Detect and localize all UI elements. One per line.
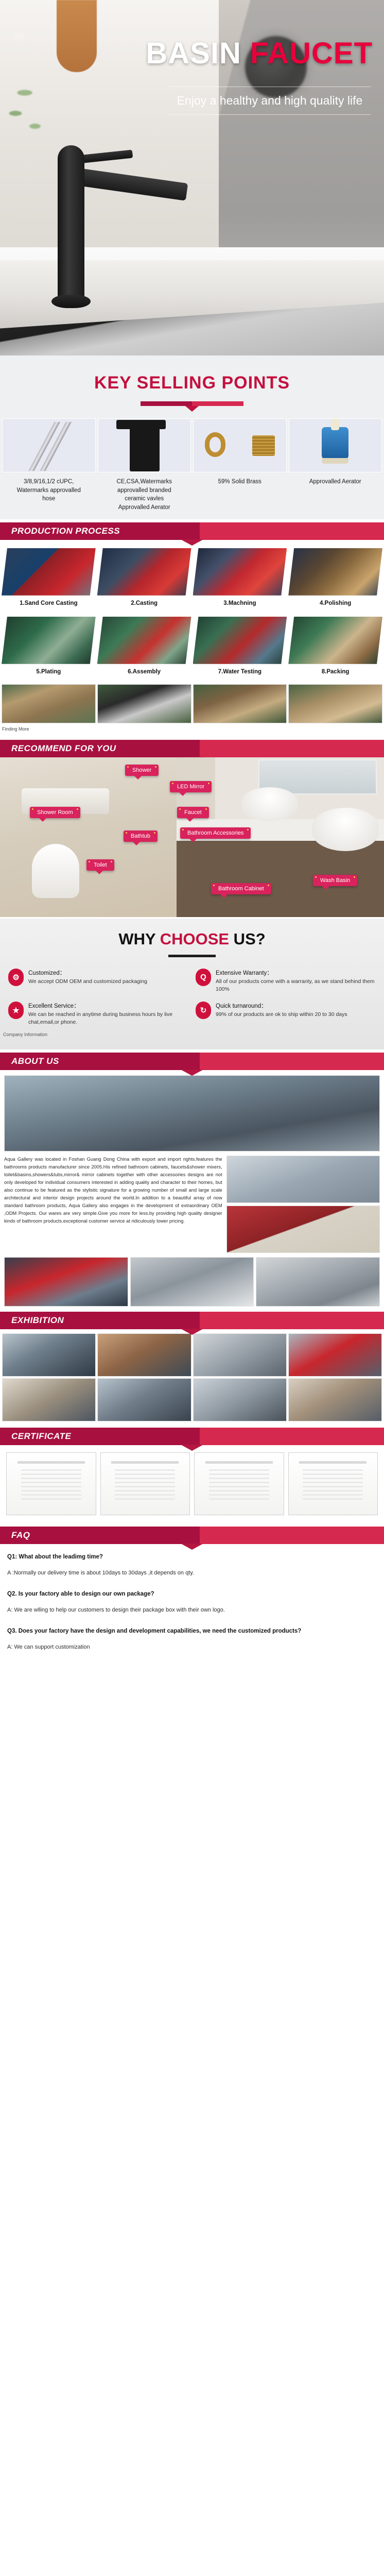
about-photo-column (226, 1156, 380, 1253)
hotspot-tag-bathtub[interactable]: Bathtub (124, 831, 158, 842)
braided-hose-icon (2, 418, 96, 472)
faq-question: Q1: What about the leadimg time? (7, 1552, 377, 1562)
production-step-label: 4.Polishing (288, 596, 382, 608)
production-step-label: 6.Assembly (97, 664, 191, 677)
why-title-part-1: WHY (118, 930, 160, 948)
exhibition-photo[interactable] (2, 1333, 96, 1377)
why-item-heading: Quick turnaround： (216, 1002, 347, 1010)
hotspot-label: Shower (132, 767, 151, 773)
certificate-image[interactable] (100, 1452, 190, 1515)
production-step-label: 7.Water Testing (193, 664, 287, 677)
why-choose-us-grid: ⚙ Customized： We accept ODM OEM and cust… (0, 969, 384, 1027)
banner-arrow-ornament (181, 1445, 203, 1451)
certificate-image[interactable] (194, 1452, 284, 1515)
storage-racks-photo (256, 1257, 380, 1307)
packaging-photo[interactable] (288, 684, 382, 723)
packaging-photo[interactable] (2, 684, 96, 723)
hotspot-label: Bathtub (131, 833, 150, 839)
key-selling-points-section: KEY SELLING POINTS 3/8,9/16,1/2 cUPC, Wa… (0, 355, 384, 519)
exhibition-photo[interactable] (288, 1333, 382, 1377)
ceramic-valve-icon (98, 418, 191, 472)
hotspot-tag-toilet[interactable]: Toilet (86, 859, 114, 871)
production-step-row: 1.Sand Core Casting 2.Casting 3.Machning… (0, 548, 384, 608)
exhibition-gallery (0, 1329, 384, 1425)
why-item-heading: Extensive Warranty： (216, 969, 376, 977)
why-item-body: All of our products come with a warranty… (216, 978, 376, 993)
production-step-row: 5.Plating 6.Assembly 7.Water Testing 8.P… (0, 617, 384, 677)
why-item-body: 99% of our products are ok to ship withi… (216, 1011, 347, 1019)
why-item-service: ★ Excellent Service： We can be reached i… (8, 1002, 188, 1026)
production-step[interactable]: 2.Casting (97, 548, 191, 608)
exhibition-photo[interactable] (97, 1333, 191, 1377)
selling-point-caption: Approvalled Aerator (289, 472, 382, 494)
banner-arrow-ornament (181, 539, 203, 546)
key-selling-points-grid: 3/8,9/16,1/2 cUPC, Watermarks approvalle… (0, 418, 384, 519)
wash-basin-image (242, 787, 298, 821)
banner-label: PRODUCTION PROCESS (11, 526, 120, 536)
hotspot-tag-wash-basin[interactable]: Wash Basin (313, 875, 357, 886)
aerator-cartridge-icon (289, 418, 382, 472)
production-step-label: 1.Sand Core Casting (2, 596, 96, 608)
finding-more-label[interactable]: Finding More (0, 723, 384, 737)
exhibition-photo[interactable] (193, 1333, 287, 1377)
banner-arrow-ornament (181, 1070, 203, 1076)
wash-basin-image (312, 808, 379, 851)
packaging-photo[interactable] (193, 684, 287, 723)
exhibition-photo[interactable] (193, 1378, 287, 1421)
production-step-label: 3.Machning (193, 596, 287, 608)
why-item-warranty: Q Extensive Warranty： All of our product… (196, 969, 376, 993)
production-step[interactable]: 8.Packing (288, 617, 382, 677)
excellent-service-icon: ★ (8, 1002, 24, 1019)
exhibition-banner: EXHIBITION (0, 1312, 384, 1329)
packaging-photo-row (0, 677, 384, 723)
exhibition-photo[interactable] (288, 1378, 382, 1421)
why-choose-us-section: WHY CHOOSE US? ⚙ Customized： We accept O… (0, 917, 384, 1049)
hotspot-tag-bathroom-accessories[interactable]: Bathroom Accessories (180, 827, 251, 839)
warehouse-photo (130, 1257, 254, 1307)
certificate-gallery (0, 1445, 384, 1523)
banner-label: RECOMMEND FOR YOU (11, 743, 116, 754)
production-step[interactable]: 6.Assembly (97, 617, 191, 677)
hotspot-label: Faucet (184, 809, 202, 816)
hotspot-label: Toilet (94, 862, 107, 868)
hotspot-tag-shower-room[interactable]: Shower Room (30, 807, 80, 818)
decorative-wood-board (57, 0, 97, 72)
faq-answer: A: We are wlling to help our customers t… (7, 1606, 377, 1615)
warranty-shield-icon: Q (196, 969, 211, 986)
selling-point-item[interactable]: 3/8,9/16,1/2 cUPC, Watermarks approvalle… (2, 418, 96, 519)
brass-body-icon (193, 418, 287, 472)
about-us-section: Aqua Gallery was located in Foshan Guang… (0, 1070, 384, 1309)
production-step-photo (2, 548, 96, 596)
production-step-label: 5.Plating (2, 664, 96, 677)
about-us-paragraph: Aqua Gallery was located in Foshan Guang… (4, 1156, 222, 1253)
faq-section: Q1: What about the leadimg time? A :Norm… (0, 1544, 384, 1677)
banner-label: FAQ (11, 1530, 30, 1540)
production-step-photo (193, 548, 287, 596)
faucet-body-image (58, 145, 84, 300)
production-process-banner: PRODUCTION PROCESS (0, 522, 384, 540)
production-step-label: 2.Casting (97, 596, 191, 608)
about-content-row: Aqua Gallery was located in Foshan Guang… (4, 1156, 380, 1253)
banner-arrow-ornament (181, 1329, 203, 1335)
hero-subtitle: Enjoy a healthy and high quality life (169, 87, 371, 115)
hero-title-accent: FAUCET (250, 37, 373, 70)
production-step[interactable]: 7.Water Testing (193, 617, 287, 677)
office-building-photo (226, 1156, 380, 1203)
about-hero-row (4, 1075, 380, 1151)
recommend-banner: RECOMMEND FOR YOU (0, 740, 384, 757)
production-step[interactable]: 3.Machning (193, 548, 287, 608)
quick-turnaround-icon: ↻ (196, 1002, 211, 1019)
production-step-photo (97, 548, 191, 596)
showroom-photo (4, 1257, 128, 1307)
faq-answer: A: We can support customization (7, 1643, 377, 1652)
selling-point-item[interactable]: CE,CSA,Watermarks approvalled branded ce… (98, 418, 191, 519)
why-item-body: We accept ODM OEM and customized packagi… (28, 978, 147, 986)
banner-label: CERTIFICATE (11, 1431, 71, 1442)
product-detail-page: BASIN FAUCET Enjoy a healthy and high qu… (0, 0, 384, 1677)
about-us-banner: ABOUT US (0, 1053, 384, 1070)
production-step-photo (97, 617, 191, 664)
production-step-photo (2, 617, 96, 664)
banner-arrow-ornament (181, 1544, 203, 1550)
why-title-highlight: CHOOSE (160, 930, 229, 948)
faq-answer: A :Normally our delivery time is about 1… (7, 1569, 377, 1578)
hotspot-tag-faucet[interactable]: Faucet (177, 807, 209, 818)
production-step[interactable]: 5.Plating (2, 617, 96, 677)
selling-point-item[interactable]: 59% Solid Brass (193, 418, 287, 519)
selling-point-item[interactable]: Approvalled Aerator (289, 418, 382, 519)
selling-point-caption: 59% Solid Brass (193, 472, 287, 494)
why-title-part-2: US? (229, 930, 266, 948)
hero-banner: BASIN FAUCET Enjoy a healthy and high qu… (0, 0, 384, 355)
hotspot-label: Wash Basin (320, 877, 350, 884)
title-underline-ornament (141, 401, 243, 406)
hero-title: BASIN FAUCET (146, 36, 373, 71)
company-information-label[interactable]: Company Information (0, 1027, 384, 1040)
hotspot-label: Shower Room (37, 809, 73, 816)
selling-point-caption: 3/8,9/16,1/2 cUPC, Watermarks approvalle… (2, 472, 96, 511)
toilet-image (32, 844, 79, 898)
exhibition-photo[interactable] (2, 1378, 96, 1421)
production-step-photo (288, 617, 382, 664)
selling-point-caption: CE,CSA,Watermarks approvalled branded ce… (98, 472, 191, 519)
hotspot-label: Bathroom Cabinet (218, 886, 264, 892)
factory-workshop-photo (4, 1075, 380, 1151)
production-step[interactable]: 4.Polishing (288, 548, 382, 608)
about-photo-strip (4, 1257, 380, 1307)
production-step-photo (193, 617, 287, 664)
production-process-section: 1.Sand Core Casting 2.Casting 3.Machning… (0, 548, 384, 737)
faq-question: Q3. Does your factory have the design an… (7, 1626, 377, 1636)
certificate-banner: CERTIFICATE (0, 1428, 384, 1445)
recommend-bathroom-scene: Shower LED Mirror Shower Room Faucet Bat… (0, 757, 384, 917)
customized-icon: ⚙ (8, 969, 24, 986)
company-signage-photo (226, 1206, 380, 1253)
faucet-base-image (51, 295, 91, 308)
production-step[interactable]: 1.Sand Core Casting (2, 548, 96, 608)
why-title-underline (168, 955, 216, 957)
decorative-plant-image (4, 15, 50, 144)
why-item-heading: Excellent Service： (28, 1002, 188, 1010)
packaging-photo[interactable] (97, 684, 191, 723)
certificate-image[interactable] (288, 1452, 378, 1515)
hero-title-primary: BASIN (146, 37, 241, 70)
production-step-photo (288, 548, 382, 596)
banner-label: EXHIBITION (11, 1315, 64, 1326)
banner-label: ABOUT US (11, 1056, 59, 1066)
key-selling-points-title: KEY SELLING POINTS (0, 373, 384, 393)
faq-question: Q2. Is your factory able to design our o… (7, 1589, 377, 1599)
why-item-customized: ⚙ Customized： We accept ODM OEM and cust… (8, 969, 188, 993)
hotspot-tag-led-mirror[interactable]: LED Mirror (170, 781, 212, 792)
why-item-turnaround: ↻ Quick turnaround： 99% of our products … (196, 1002, 376, 1026)
hotspot-label: LED Mirror (177, 784, 204, 790)
why-choose-us-title: WHY CHOOSE US? (0, 930, 384, 948)
exhibition-photo[interactable] (97, 1378, 191, 1421)
production-step-label: 8.Packing (288, 664, 382, 677)
certificate-image[interactable] (6, 1452, 96, 1515)
why-item-heading: Customized： (28, 969, 147, 977)
hotspot-tag-bathroom-cabinet[interactable]: Bathroom Cabinet (211, 883, 271, 894)
faq-banner: FAQ (0, 1527, 384, 1544)
why-item-body: We can be reached in anytime during busi… (28, 1011, 188, 1026)
hotspot-tag-shower[interactable]: Shower (125, 765, 159, 776)
hotspot-label: Bathroom Accessories (187, 830, 243, 836)
